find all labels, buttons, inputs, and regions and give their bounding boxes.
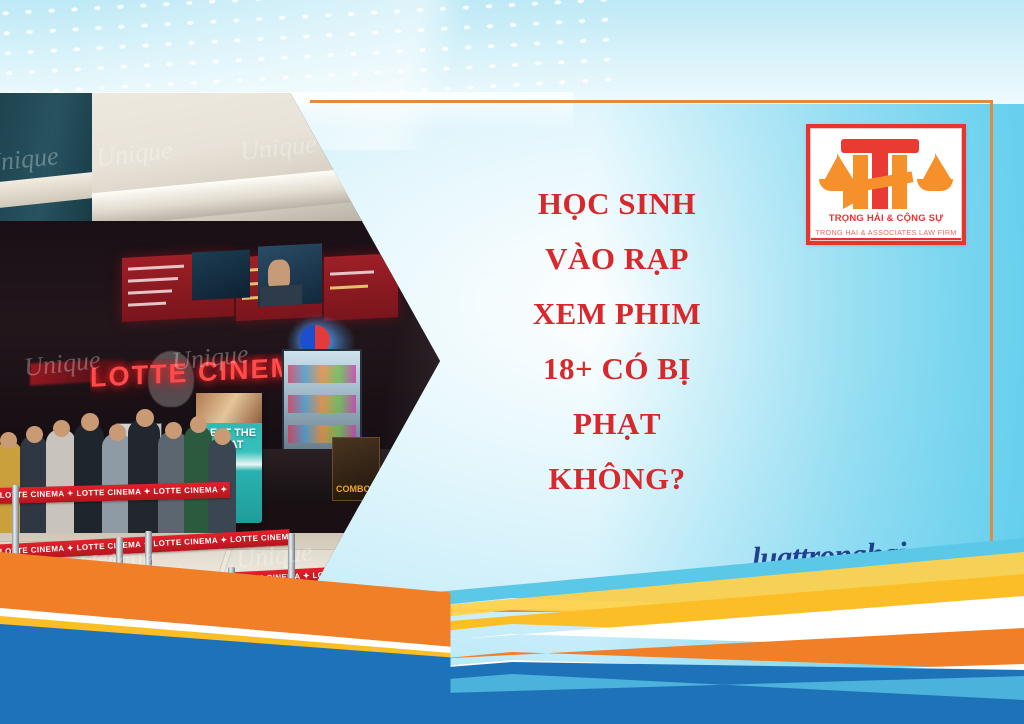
headline-line-5: PHẠT	[452, 396, 782, 451]
combo-poster-label: COMBO	[336, 484, 371, 494]
headline-line-1: HỌC SINH	[452, 176, 782, 231]
headline-line-3: XEM PHIM	[452, 286, 782, 341]
barrier-post	[288, 533, 295, 629]
headline-line-6: KHÔNG?	[452, 451, 782, 506]
barrier-post	[12, 485, 19, 587]
logo-mark	[811, 133, 961, 211]
logo-name-en: TRONG HAI & ASSOCIATES LAW FIRM	[811, 228, 961, 237]
barrier-post	[116, 537, 123, 629]
headline-line-2: VÀO RẠP	[452, 231, 782, 286]
banner-canvas: LOTTE CINEMA COMBO BEAT THE HEAT	[0, 0, 1024, 724]
logo-name-vi: TRỌNG HẢI & CỘNG SỰ	[811, 213, 961, 224]
barrier-post	[228, 567, 235, 629]
scales-of-justice-right-icon	[915, 153, 955, 203]
logo-bottom-bar	[811, 238, 961, 240]
tv-screen	[258, 243, 322, 306]
law-firm-logo[interactable]: TRỌNG HẢI & CỘNG SỰ TRONG HAI & ASSOCIAT…	[806, 124, 966, 245]
pillar-band	[0, 172, 92, 208]
barrier-post	[145, 531, 152, 589]
tv-person-body	[260, 284, 302, 306]
digital-display	[192, 249, 250, 300]
headline-line-4: 18+ CÓ BỊ	[452, 341, 782, 396]
headline-text: HỌC SINH VÀO RẠP XEM PHIM 18+ CÓ BỊ PHẠT…	[452, 176, 782, 506]
website-url[interactable]: luattronghai.vn	[751, 534, 944, 577]
